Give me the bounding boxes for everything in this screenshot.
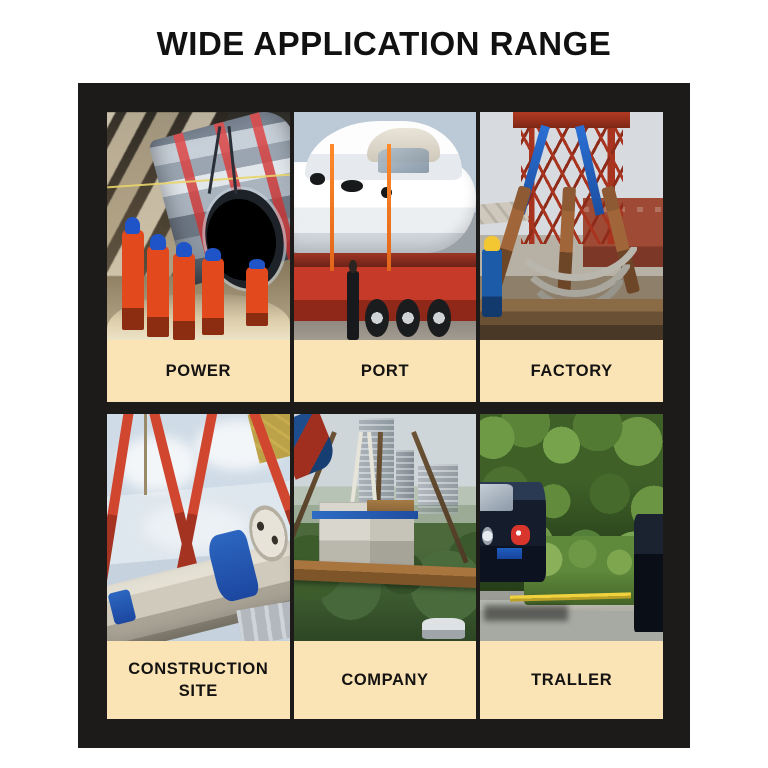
crane-arm-shape — [294, 414, 340, 480]
grid-row-1: POWER — [107, 112, 663, 402]
application-grid: POWER — [107, 112, 663, 719]
porthole-shape — [310, 173, 325, 184]
gantry-beam-shape — [513, 112, 630, 128]
grid-cell-traller[interactable]: TRALLER — [480, 414, 663, 720]
trailer-wheel-shape — [365, 299, 389, 338]
license-plate-shape — [497, 548, 523, 559]
grid-cell-company[interactable]: COMPANY — [294, 414, 477, 720]
yacht-on-trailer-photo — [294, 112, 477, 340]
worker-figure — [173, 253, 195, 339]
cell-label-port: PORT — [294, 340, 477, 402]
label-text: TRALLER — [531, 669, 612, 691]
blue-sling-shape — [312, 511, 418, 518]
car-shadow-shape — [484, 605, 568, 621]
parked-car-shape — [422, 618, 466, 638]
cell-label-construction-site: CONSTRUCTION SITE — [107, 641, 290, 719]
worker-figure — [202, 258, 224, 335]
grid-cell-construction-site[interactable]: CONSTRUCTION SITE — [107, 414, 290, 720]
worker-figure — [482, 249, 502, 317]
orange-strap-shape — [330, 144, 334, 271]
pipeline-installation-photo — [107, 112, 290, 340]
label-text: FACTORY — [531, 360, 613, 382]
grid-cell-power[interactable]: POWER — [107, 112, 290, 402]
machinery-crate-shape — [370, 514, 414, 569]
application-grid-frame: POWER — [78, 83, 690, 748]
label-text: PORT — [361, 360, 409, 382]
gantry-crane-lifting-photo — [480, 112, 663, 340]
porthole-shape — [341, 180, 363, 191]
red-sling-shape — [107, 414, 135, 590]
trailer-wheel-shape — [427, 299, 451, 338]
cell-label-company: COMPANY — [294, 641, 477, 719]
page-title: WIDE APPLICATION RANGE — [0, 24, 768, 64]
car-towing-photo — [480, 414, 663, 642]
machinery-crate-lifting-photo — [294, 414, 477, 642]
orange-strap-shape — [387, 144, 391, 271]
worker-figure — [147, 246, 169, 337]
second-vehicle-shape — [634, 514, 663, 632]
timber-pallet-shape — [480, 299, 663, 340]
grid-cell-port[interactable]: PORT — [294, 112, 477, 402]
crane-hook-shape — [144, 414, 147, 496]
grid-cell-factory[interactable]: FACTORY — [480, 112, 663, 402]
cell-label-factory: FACTORY — [480, 340, 663, 402]
label-text: POWER — [166, 360, 231, 382]
cell-label-traller: TRALLER — [480, 641, 663, 719]
cell-label-power: POWER — [107, 340, 290, 402]
worker-figure — [122, 230, 144, 330]
label-text: COMPANY — [341, 669, 428, 691]
car-window-shape — [480, 484, 513, 511]
taillight-shape — [511, 525, 529, 545]
product-banner: WIDE APPLICATION RANGE — [0, 0, 768, 768]
yacht-windshield-shape — [378, 148, 429, 173]
concrete-pile-lifting-photo — [107, 414, 290, 642]
label-text: CONSTRUCTION SITE — [109, 658, 288, 702]
trailer-wheel-shape — [396, 299, 420, 338]
person-figure — [347, 271, 360, 339]
worker-figure — [246, 267, 268, 326]
grid-row-2: CONSTRUCTION SITE — [107, 414, 663, 720]
